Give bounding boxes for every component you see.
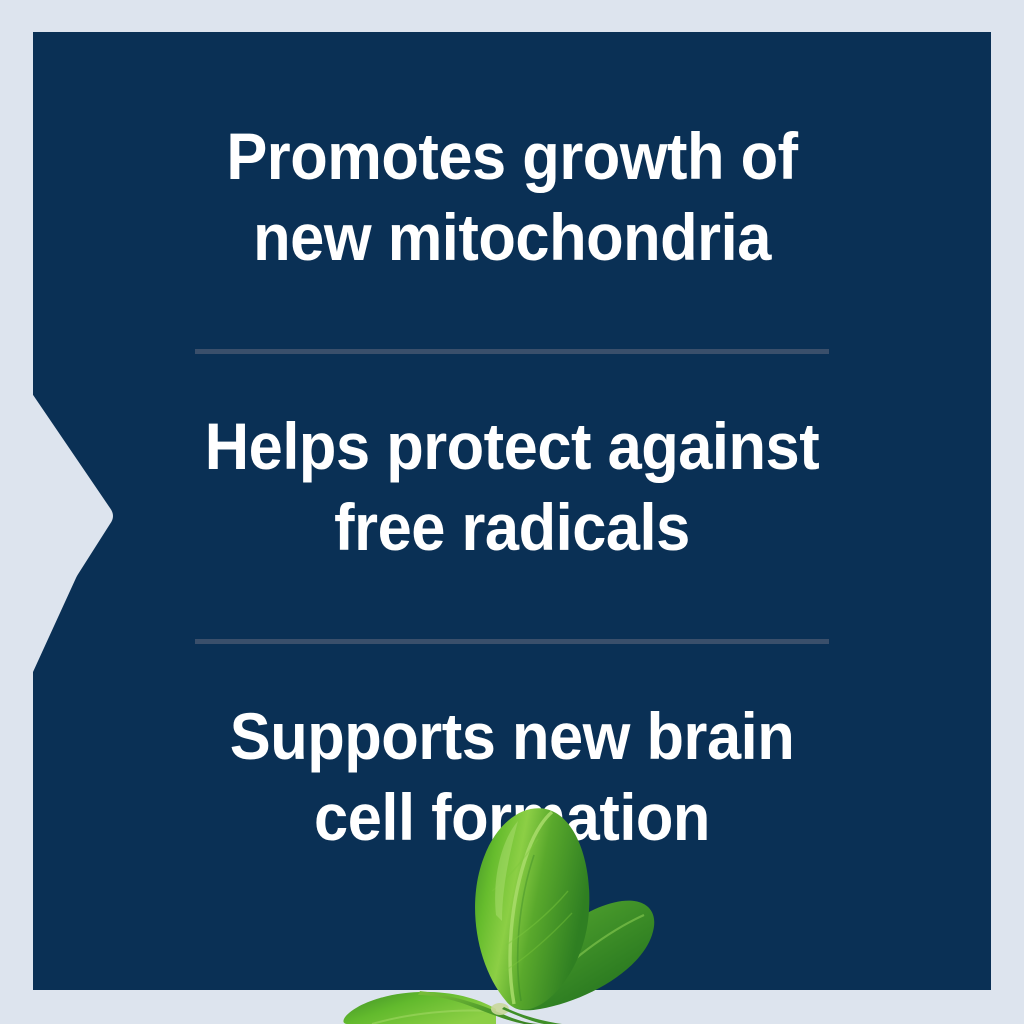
benefit-line: cell formation — [121, 777, 902, 858]
benefits-list: Promotes growth of new mitochondria Help… — [33, 32, 991, 990]
benefit-item-brain-cells: Supports new brain cell formation — [121, 696, 902, 857]
benefit-line: Supports new brain — [121, 696, 902, 777]
benefit-line: free radicals — [121, 487, 902, 568]
benefit-item-mitochondria: Promotes growth of new mitochondria — [121, 116, 902, 277]
divider-2 — [195, 639, 829, 644]
divider-1 — [195, 349, 829, 354]
benefit-line: new mitochondria — [121, 197, 902, 278]
benefit-line: Promotes growth of — [121, 116, 902, 197]
benefit-line: Helps protect against — [121, 406, 902, 487]
benefit-item-free-radicals: Helps protect against free radicals — [121, 406, 902, 567]
benefits-infographic: Promotes growth of new mitochondria Help… — [0, 0, 1024, 1024]
